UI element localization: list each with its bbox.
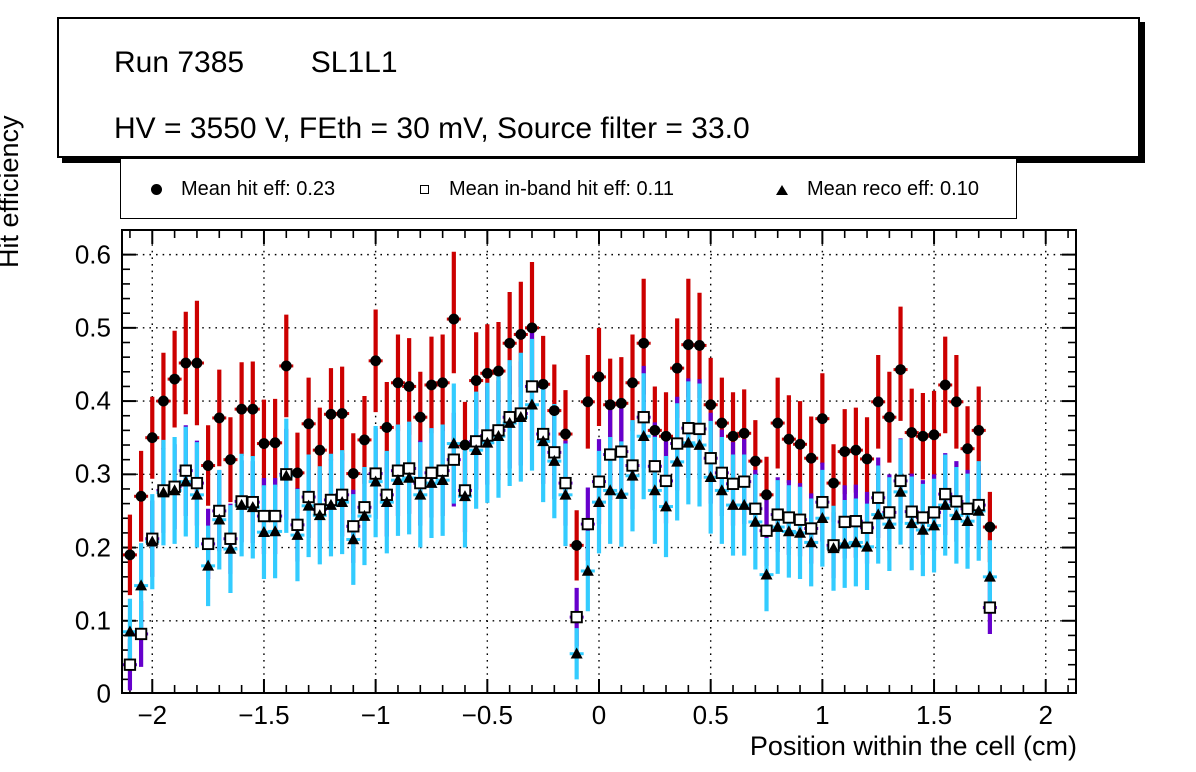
filled-triangle-marker-icon xyxy=(769,177,795,203)
x-tick-label: −0.5 xyxy=(462,700,513,731)
y-axis-tick-labels: 00.10.20.30.40.50.6 xyxy=(0,0,111,772)
legend-entry-mean-reco-eff: Mean reco eff: 0.10 xyxy=(769,159,979,220)
x-tick-label: −1.5 xyxy=(238,700,289,731)
x-tick-label: 1 xyxy=(815,700,829,731)
y-tick-label: 0.5 xyxy=(75,312,111,343)
plot-frame xyxy=(121,229,1077,694)
legend-entry-mean-inband-hit-eff: Mean in-band hit eff: 0.11 xyxy=(411,159,674,220)
data-series-layer xyxy=(123,231,1075,692)
y-tick-label: 0.1 xyxy=(75,605,111,636)
x-tick-label: 2 xyxy=(1038,700,1052,731)
title-line-hv-feth-filter: HV = 3550 V, FEth = 30 mV, Source filter… xyxy=(114,112,750,146)
x-tick-label: −2 xyxy=(137,700,167,731)
plot-area xyxy=(123,231,1075,692)
x-tick-label: 0 xyxy=(592,700,606,731)
legend-label-mean-hit-eff: Mean hit eff: 0.23 xyxy=(181,178,335,201)
y-tick-label: 0.6 xyxy=(75,239,111,270)
x-tick-label: −1 xyxy=(361,700,391,731)
legend-box: Mean hit eff: 0.23 Mean in-band hit eff:… xyxy=(120,158,1017,219)
x-tick-label: 0.5 xyxy=(693,700,729,731)
x-axis-tick-labels: −2−1.5−1−0.500.511.52 xyxy=(0,700,1196,740)
y-tick-label: 0.4 xyxy=(75,386,111,417)
y-tick-label: 0.2 xyxy=(75,532,111,563)
x-tick-label: 1.5 xyxy=(916,700,952,731)
y-tick-label: 0.3 xyxy=(75,459,111,490)
legend-entry-mean-hit-eff: Mean hit eff: 0.23 xyxy=(143,159,335,220)
title-line-run-sl: Run 7385 SL1L1 xyxy=(114,46,398,80)
filled-circle-marker-icon xyxy=(143,177,169,203)
open-square-marker-icon xyxy=(411,177,437,203)
legend-label-mean-reco-eff: Mean reco eff: 0.10 xyxy=(807,178,979,201)
legend-label-mean-inband-hit-eff: Mean in-band hit eff: 0.11 xyxy=(449,178,674,201)
markers-open-square xyxy=(125,381,995,670)
title-box: Run 7385 SL1L1 HV = 3550 V, FEth = 30 mV… xyxy=(57,17,1140,158)
